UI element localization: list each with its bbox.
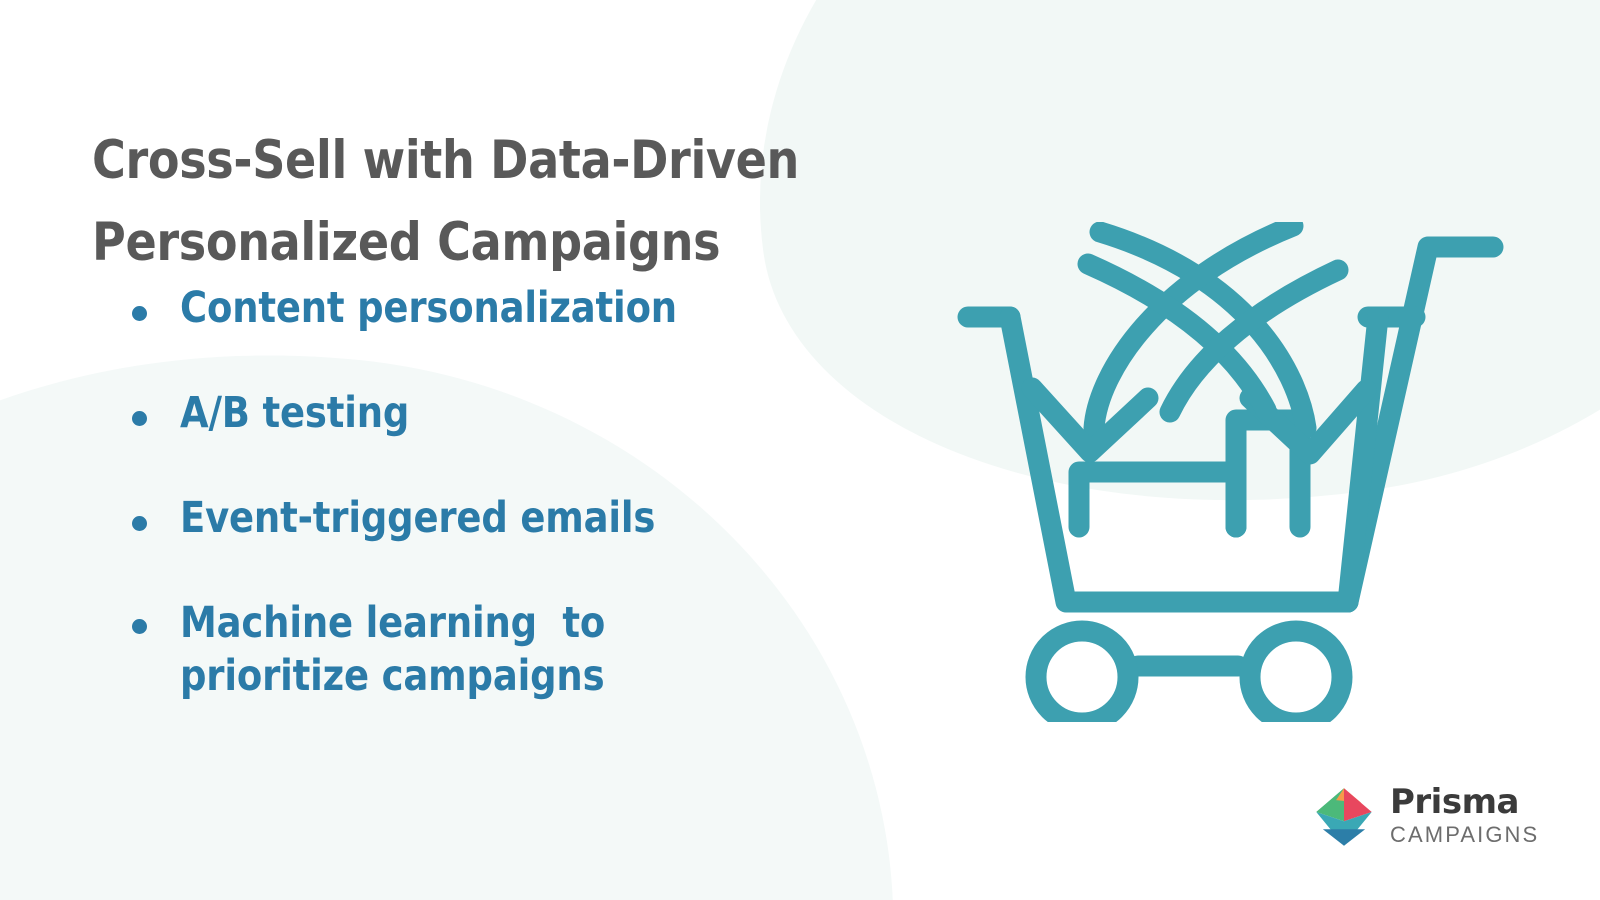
cart-wheel-left-icon bbox=[1036, 631, 1128, 722]
list-item: Content personalization bbox=[132, 282, 962, 335]
prisma-prism-icon bbox=[1311, 783, 1377, 849]
bullet-label: A/B testing bbox=[180, 387, 409, 440]
logo-wordmark: Prisma CAMPAIGNS bbox=[1390, 785, 1539, 848]
bullet-dot-icon bbox=[132, 619, 147, 634]
list-item: Event-triggered emails bbox=[132, 492, 962, 545]
bullet-label: Event-triggered emails bbox=[180, 492, 655, 545]
brand-logo: Prisma CAMPAIGNS bbox=[1311, 783, 1539, 849]
bullet-dot-icon bbox=[132, 411, 147, 426]
logo-brand-name: Prisma bbox=[1390, 785, 1539, 819]
cross-sell-arrows-icon bbox=[1032, 226, 1366, 454]
page-title: Cross-Sell with Data-Driven Personalized… bbox=[92, 120, 1058, 284]
bullet-dot-icon bbox=[132, 516, 147, 531]
bullet-label: Machine learning to prioritize campaigns bbox=[180, 597, 605, 703]
cart-wheel-right-icon bbox=[1250, 631, 1342, 722]
feature-bullet-list: Content personalization A/B testing Even… bbox=[132, 282, 962, 703]
bullet-dot-icon bbox=[132, 306, 147, 321]
logo-tagline: CAMPAIGNS bbox=[1390, 822, 1539, 848]
list-item: Machine learning to prioritize campaigns bbox=[132, 597, 962, 703]
bullet-label: Content personalization bbox=[180, 282, 677, 335]
slide-canvas: Cross-Sell with Data-Driven Personalized… bbox=[0, 0, 1600, 900]
list-item: A/B testing bbox=[132, 387, 962, 440]
shopping-cart-icon bbox=[948, 222, 1508, 722]
